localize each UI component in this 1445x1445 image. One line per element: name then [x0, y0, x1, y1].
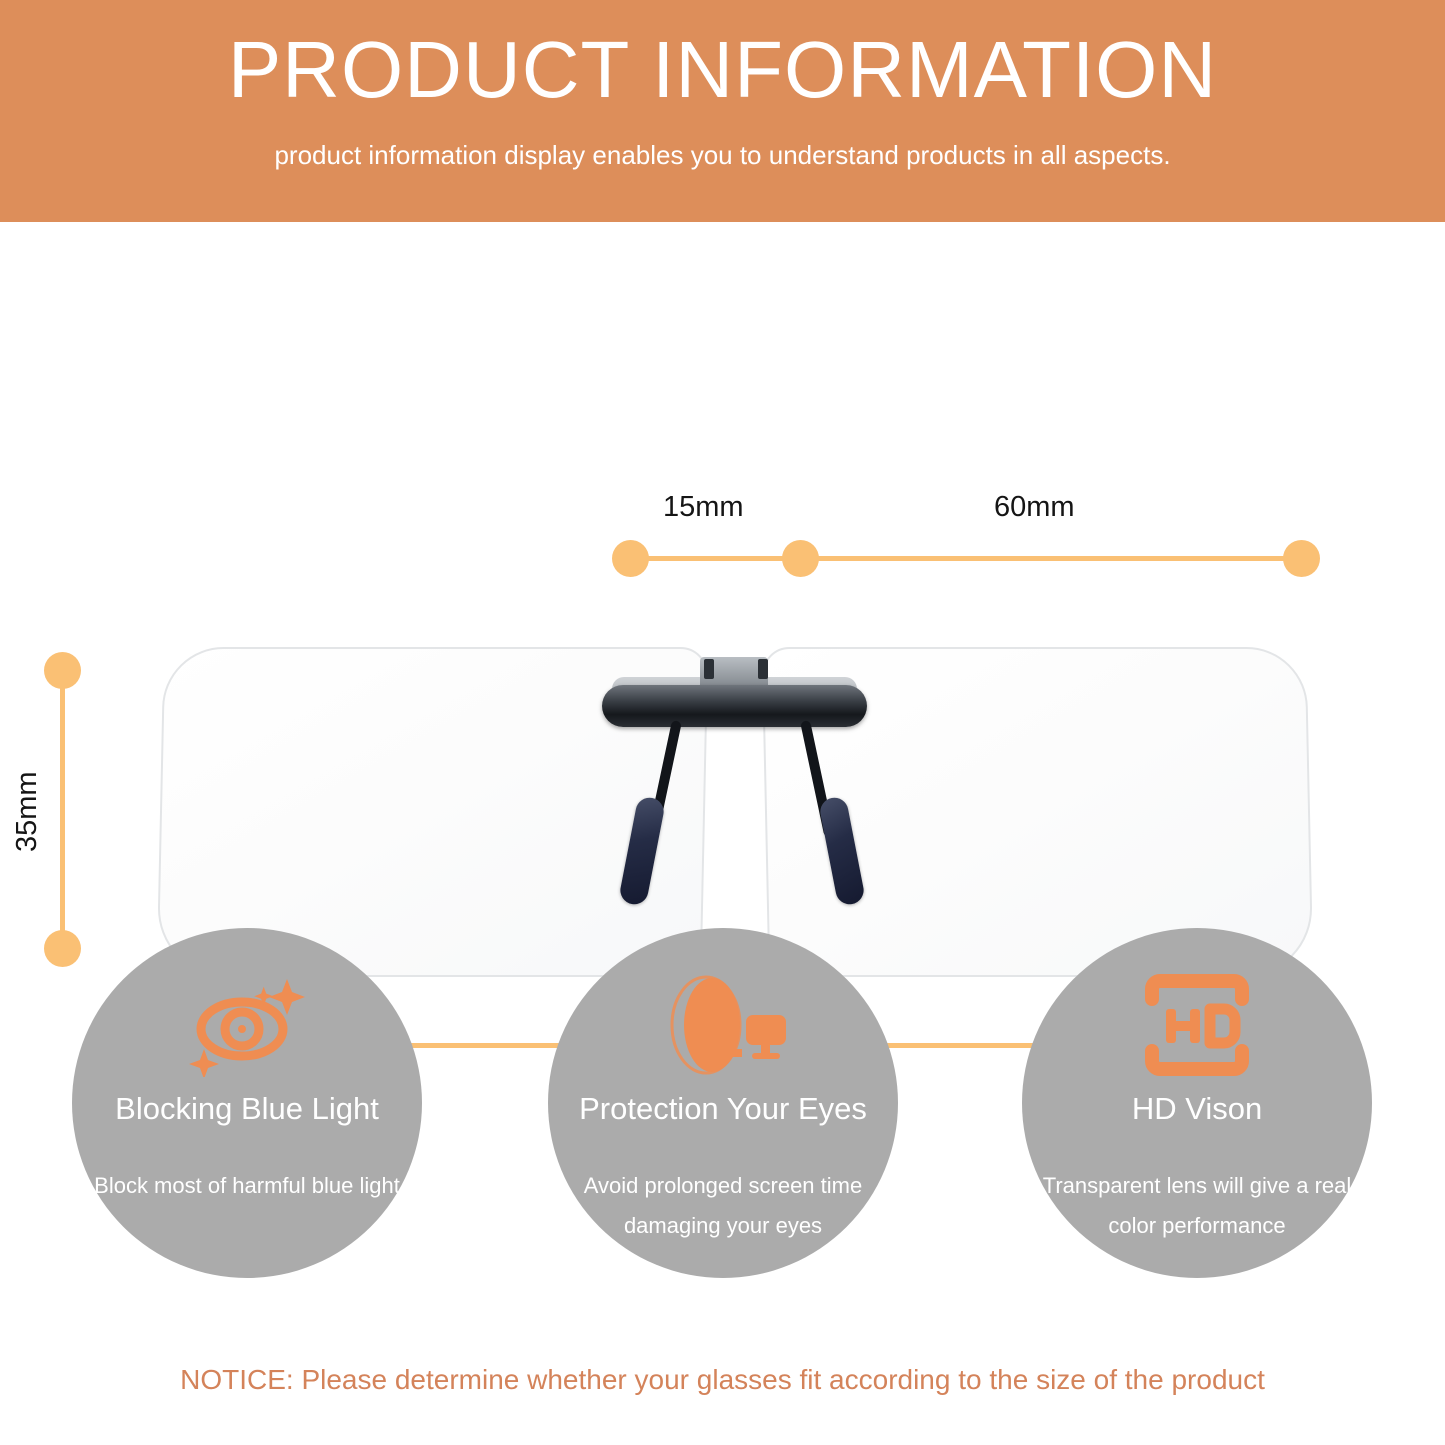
hd-bracket-icon	[1022, 966, 1372, 1084]
feature-card-hd-vison: HD Vison Transparent lens will give a re…	[1022, 928, 1372, 1278]
feature-card-protection-your-eyes: Protection Your Eyes Avoid prolonged scr…	[548, 928, 898, 1278]
page-title: PRODUCT INFORMATION	[0, 22, 1445, 118]
page-subtitle: product information display enables you …	[0, 138, 1445, 172]
feature-description: Avoid prolonged screen time damaging you…	[552, 1166, 894, 1246]
header-banner: PRODUCT INFORMATION product information …	[0, 0, 1445, 222]
feature-description: Transparent lens will give a real color …	[1026, 1166, 1368, 1246]
clip-notch-right	[758, 659, 768, 679]
feature-title: HD Vison	[994, 1090, 1400, 1128]
left-measure-dot-top	[44, 652, 81, 689]
feature-card-blocking-blue-light: Blocking Blue Light Block most of harmfu…	[72, 928, 422, 1278]
feature-title: Blocking Blue Light	[44, 1090, 450, 1128]
feature-description: Block most of harmful blue light	[76, 1166, 418, 1206]
feature-title: Protection Your Eyes	[520, 1090, 926, 1128]
clip-notch-left	[704, 659, 714, 679]
measure-label-lens-height: 35mm	[10, 771, 44, 852]
eye-sparkle-icon	[72, 966, 422, 1084]
left-measure-line	[60, 670, 65, 948]
product-dimension-diagram: 15mm 60mm 35mm 130mm	[0, 222, 1445, 922]
top-measure-dot-middle	[782, 540, 819, 577]
feature-circle-group: Blocking Blue Light Block most of harmfu…	[0, 928, 1445, 1278]
person-at-monitor-icon	[548, 966, 898, 1084]
top-measure-dot-right	[1283, 540, 1320, 577]
notice-text: NOTICE: Please determine whether your gl…	[0, 1362, 1445, 1398]
top-measure-dot-left	[612, 540, 649, 577]
measure-label-lens-width: 60mm	[994, 490, 1075, 524]
measure-label-bridge-width: 15mm	[663, 490, 744, 524]
top-measure-line	[630, 556, 1302, 561]
bridge-bar	[602, 685, 867, 727]
